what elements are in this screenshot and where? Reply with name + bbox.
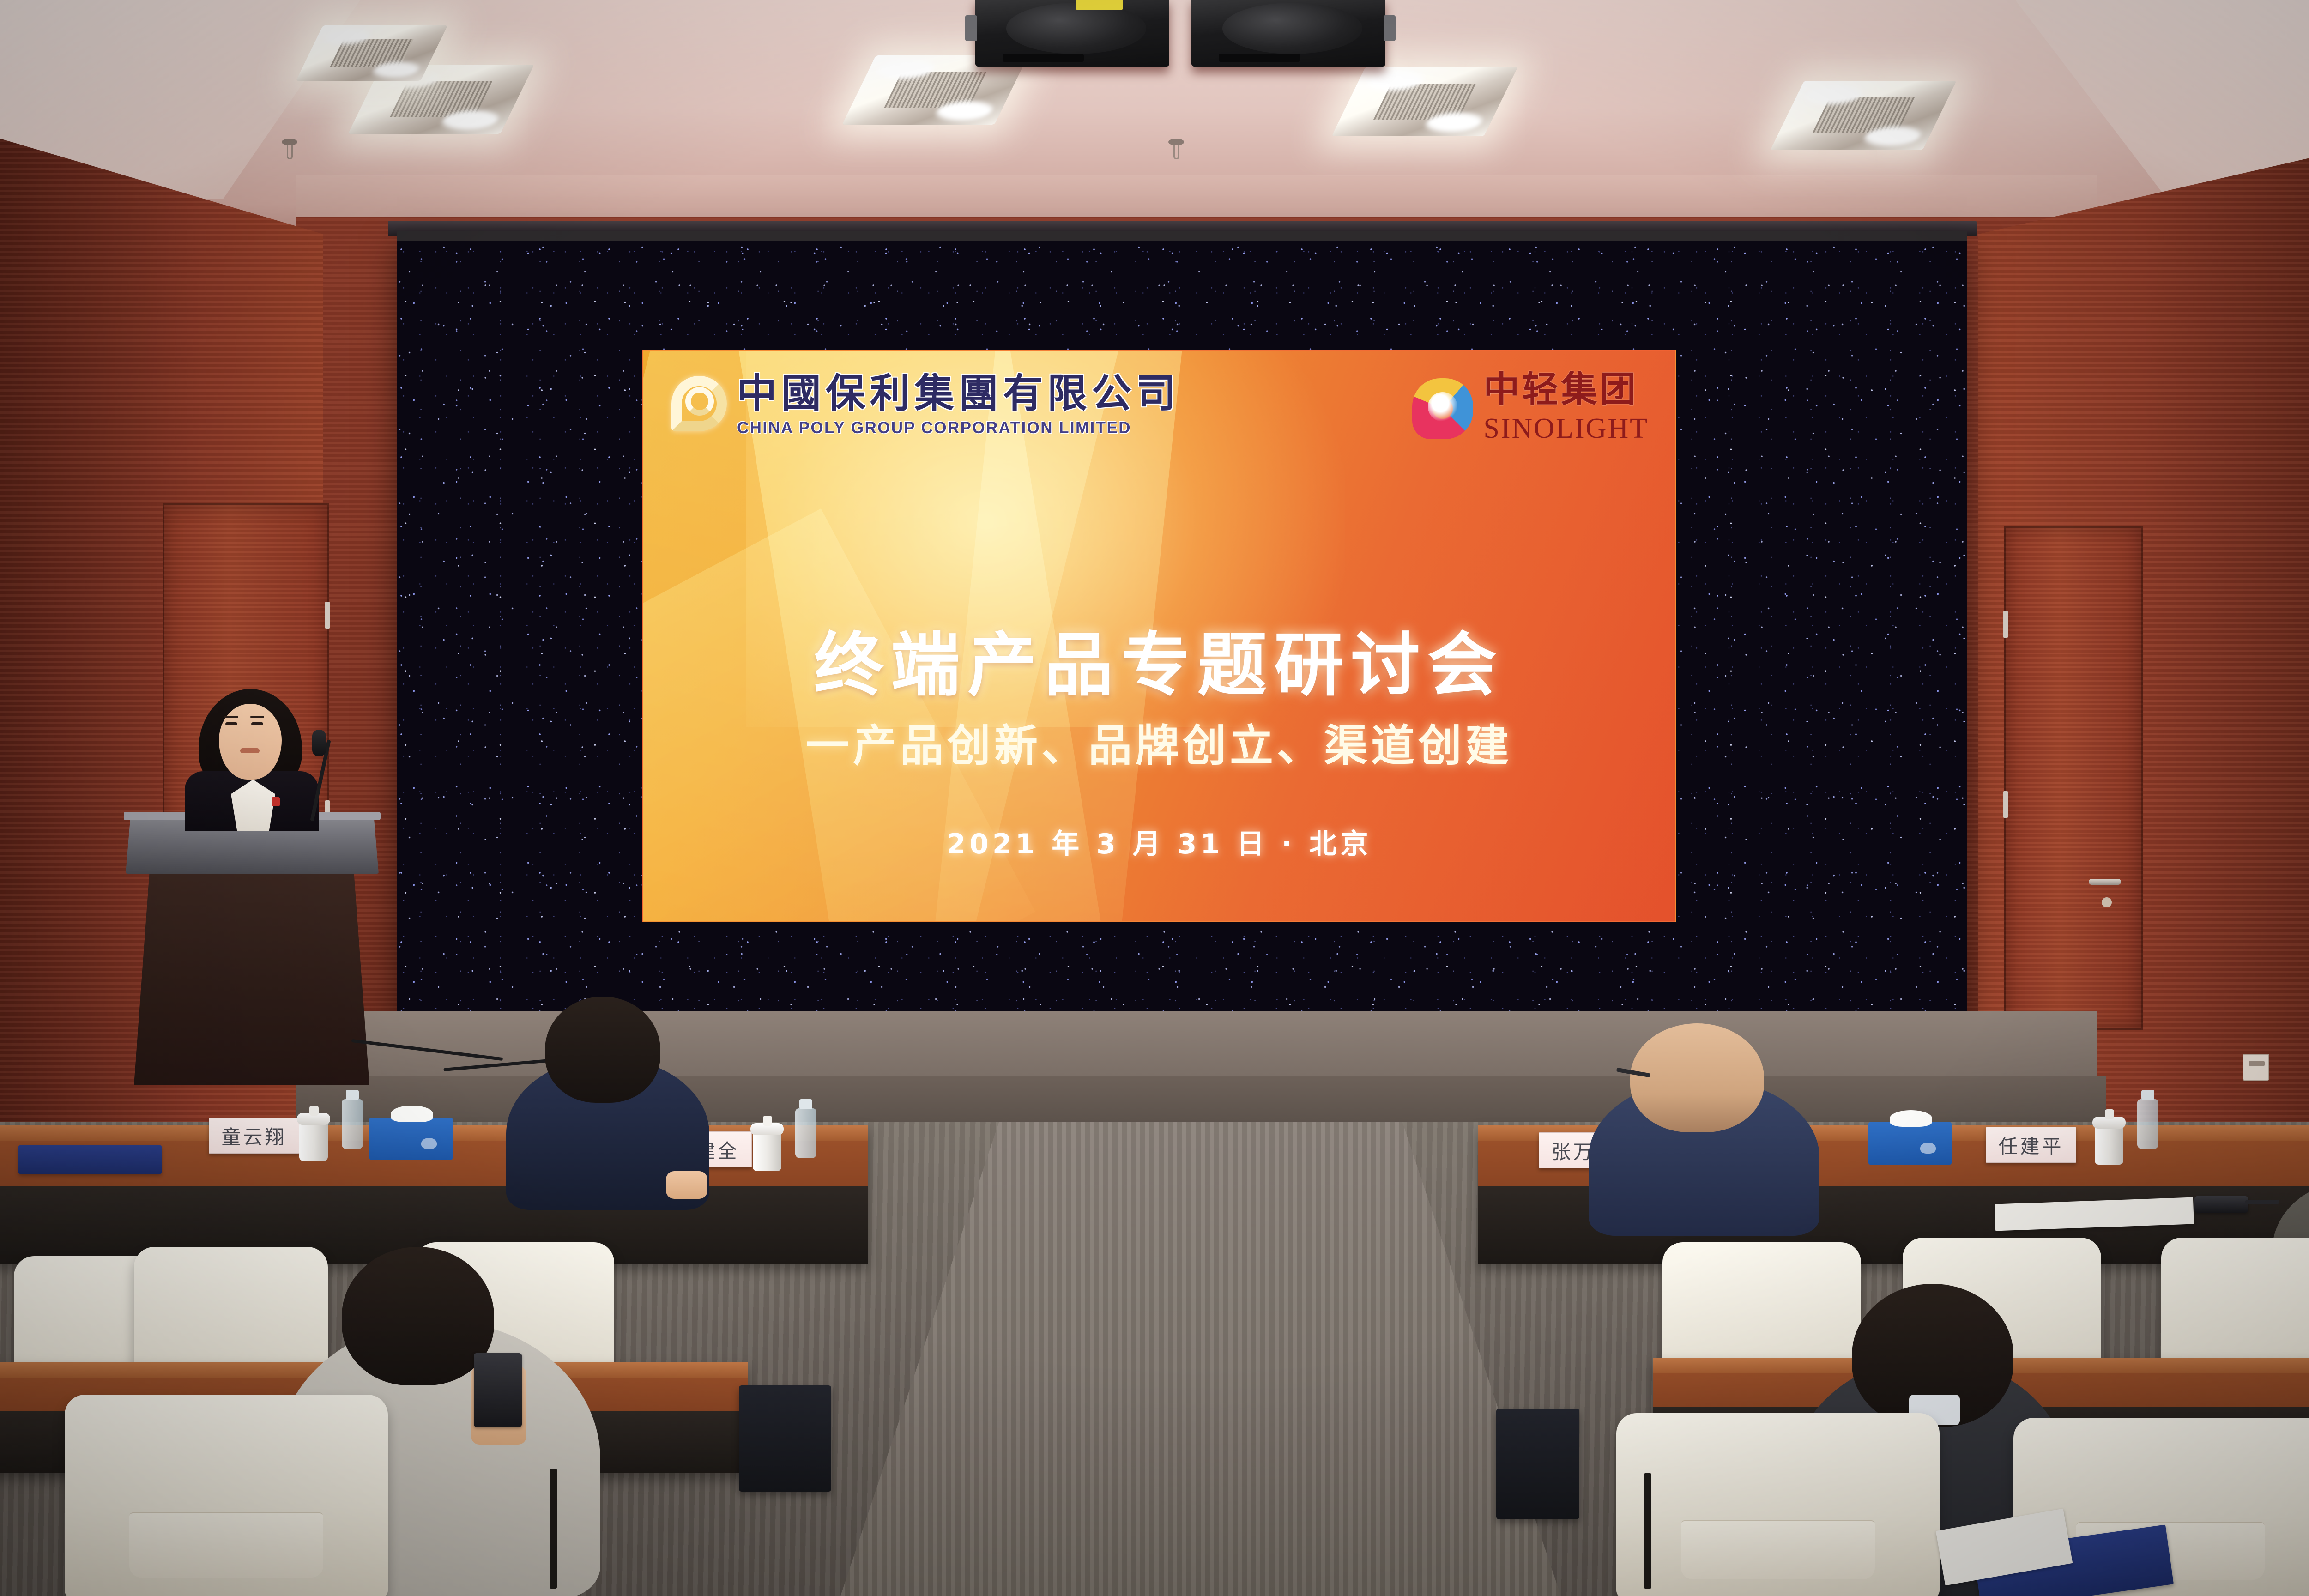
- chair-leg: [1644, 1473, 1651, 1589]
- attendee-hand: [666, 1171, 707, 1199]
- slide-title: 终端产品专题研讨会: [643, 609, 1675, 709]
- speaker-label-icon: [1076, 0, 1123, 10]
- door-hinge-icon: [2003, 791, 2008, 818]
- name-placard-4: 任建平: [1986, 1127, 2076, 1163]
- lidded-mug: [299, 1122, 328, 1161]
- audience-chair: [65, 1395, 388, 1596]
- lidded-mug: [2095, 1126, 2123, 1165]
- door-right[interactable]: [2004, 526, 2143, 1030]
- ceiling-speaker-right: [1191, 0, 1385, 66]
- presenter-lapel-pin: [272, 797, 280, 806]
- presenter-eyebrow: [224, 716, 238, 718]
- sinolight-logo-text-en: SINOLIGHT: [1483, 412, 1649, 445]
- speaker-bracket-icon: [965, 15, 977, 41]
- poly-logo-text-en: CHINA POLY GROUP CORPORATION LIMITED: [737, 419, 1180, 437]
- power-outlet[interactable]: [2243, 1054, 2269, 1081]
- door-hinge-icon: [2003, 611, 2008, 638]
- door-handle-icon[interactable]: [2089, 879, 2121, 885]
- speaker-port-icon: [1003, 54, 1084, 62]
- door-lock-icon: [2102, 897, 2112, 907]
- smartphone-in-hand[interactable]: [474, 1353, 522, 1427]
- briefcase: [739, 1385, 831, 1492]
- ceiling-speaker-left: [975, 0, 1169, 66]
- bottle-cap-icon: [799, 1099, 812, 1109]
- sinolight-logo-text-cn: 中轻集团: [1483, 372, 1649, 408]
- door-hinge-icon: [325, 602, 330, 629]
- briefcase: [1496, 1409, 1579, 1519]
- poly-emblem-icon: [671, 376, 727, 435]
- lidded-mug: [753, 1132, 781, 1171]
- presenter-eye: [225, 722, 237, 725]
- eyeglasses-on-table: [2245, 1200, 2279, 1204]
- poly-logo-text-cn: 中國保利集團有限公司: [737, 374, 1180, 413]
- water-bottle: [342, 1099, 363, 1149]
- outlet-slot-icon: [2249, 1061, 2265, 1066]
- attendee-head: [545, 997, 660, 1103]
- placard-name-text: 童云翔: [221, 1122, 286, 1150]
- speaker-cone-icon: [1006, 3, 1146, 54]
- presenter-eyebrow: [250, 716, 264, 718]
- mug-knob-icon: [309, 1106, 319, 1116]
- tissue-box: [1868, 1122, 1952, 1165]
- chair-leg: [550, 1469, 557, 1589]
- tissue-box: [369, 1118, 453, 1160]
- conference-room-photo: 中國保利集團有限公司 CHINA POLY GROUP CORPORATION …: [0, 0, 2309, 1596]
- led-display-screen: 中國保利集團有限公司 CHINA POLY GROUP CORPORATION …: [397, 231, 1967, 1016]
- attendee-head: [342, 1247, 494, 1385]
- presentation-slide: 中國保利集團有限公司 CHINA POLY GROUP CORPORATION …: [642, 350, 1676, 922]
- tissue-sheet-icon: [391, 1106, 433, 1122]
- china-poly-group-logo: 中國保利集團有限公司 CHINA POLY GROUP CORPORATION …: [671, 374, 1180, 437]
- attendee-head-bald: [1630, 1023, 1764, 1132]
- bottle-cap-icon: [346, 1090, 359, 1100]
- mug-knob-icon: [2105, 1109, 2114, 1119]
- bottle-cap-icon: [2141, 1090, 2154, 1100]
- sinolight-logo: 中轻集团 SINOLIGHT: [1412, 372, 1649, 445]
- speaker-cone-icon: [1222, 3, 1362, 54]
- slide-subtitle: 一产品创新、品牌创立、渠道创建: [643, 711, 1675, 774]
- microphone-icon: [312, 730, 326, 756]
- chair-back-pocket: [129, 1512, 323, 1578]
- tissue-sheet-icon: [1890, 1110, 1932, 1127]
- tissue-box-pattern-icon: [421, 1138, 437, 1149]
- presenter-mouth: [240, 748, 260, 753]
- sinolight-emblem-icon: [1412, 378, 1473, 439]
- presenter-face: [219, 704, 282, 780]
- sprinkler-head-icon: [282, 139, 297, 160]
- slide-date-location: 2021 年 3 月 31 日 · 北京: [643, 822, 1675, 862]
- sprinkler-head-icon: [1168, 139, 1184, 160]
- speaker-port-icon: [1219, 54, 1300, 62]
- presenter-eye: [251, 722, 263, 725]
- smartphone-on-table: [2194, 1196, 2248, 1213]
- water-bottle: [2137, 1099, 2158, 1149]
- water-bottle: [795, 1108, 816, 1158]
- placard-name-text: 任建平: [1998, 1131, 2063, 1159]
- chair-back-pocket: [1681, 1520, 1875, 1579]
- name-placard-1: 童云翔: [209, 1118, 299, 1154]
- document-folder: [18, 1145, 162, 1174]
- mug-knob-icon: [763, 1116, 772, 1126]
- speaker-bracket-icon: [1384, 15, 1396, 41]
- audience-chair: [1616, 1413, 1940, 1596]
- tissue-box-pattern-icon: [1920, 1143, 1936, 1154]
- presenter-at-podium: [181, 689, 320, 828]
